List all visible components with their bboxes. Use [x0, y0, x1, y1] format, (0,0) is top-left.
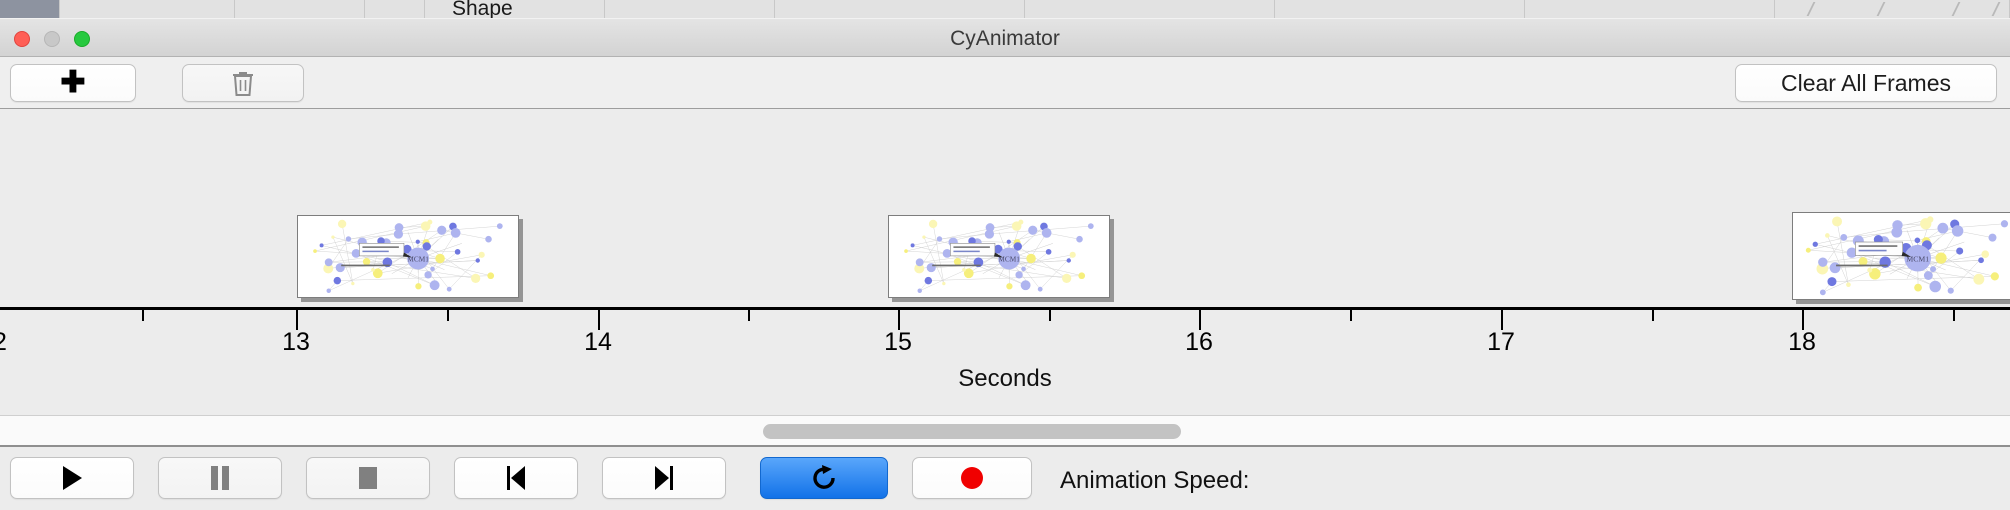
axis-tick-label: 12: [0, 328, 7, 357]
axis-tick-label: 16: [1185, 328, 1213, 357]
axis-tick-major: [598, 310, 600, 330]
transport-bar: Animation Speed:: [0, 447, 2010, 510]
timeline-frame[interactable]: MCM1: [297, 215, 519, 298]
axis-tick-major: [1802, 310, 1804, 330]
plus-icon: ✚: [60, 68, 85, 98]
window-title: CyAnimator: [0, 19, 2010, 58]
toolbar: ✚ Clear All Frames: [0, 57, 2010, 109]
axis-tick-label: 14: [584, 328, 612, 357]
axis-tick-minor: [1350, 310, 1352, 321]
axis-tick-minor: [1652, 310, 1654, 321]
add-frame-button[interactable]: ✚: [10, 64, 136, 102]
timeline-frame[interactable]: MCM1: [1792, 212, 2010, 300]
network-thumbnail: MCM1: [1793, 213, 2010, 299]
axis-tick-major: [1501, 310, 1503, 330]
axis-tick-label: 18: [1788, 328, 1816, 357]
axis-tick-minor: [748, 310, 750, 321]
record-icon: [959, 465, 985, 491]
animation-speed-label: Animation Speed:: [1060, 467, 1249, 495]
clear-all-frames-button[interactable]: Clear All Frames: [1735, 64, 1997, 102]
axis-title: Seconds: [0, 365, 2010, 393]
delete-frame-button[interactable]: [182, 64, 304, 102]
axis-tick-major: [898, 310, 900, 330]
axis-tick-label: 13: [282, 328, 310, 357]
timeline-frame[interactable]: MCM1: [888, 215, 1110, 298]
pause-icon: [208, 464, 232, 492]
timeline-axis: [0, 307, 2010, 310]
clear-all-frames-label: Clear All Frames: [1781, 70, 1951, 97]
axis-tick-label: 15: [884, 328, 912, 357]
axis-tick-major: [1199, 310, 1201, 330]
pause-button[interactable]: [158, 457, 282, 499]
skip-forward-icon: [651, 464, 677, 492]
axis-tick-label: 17: [1487, 328, 1515, 357]
next-frame-button[interactable]: [602, 457, 726, 499]
play-icon: [59, 464, 85, 492]
cyanimator-window: Shape CyAnimator ✚ Clear All Frames: [0, 0, 2010, 510]
title-bar: CyAnimator: [0, 18, 2010, 57]
play-button[interactable]: [10, 457, 134, 499]
axis-tick-minor: [142, 310, 144, 321]
frames-area[interactable]: MCM1MCM1MCM1: [0, 110, 2010, 308]
axis-tick-minor: [447, 310, 449, 321]
background-window-strip: Shape: [0, 0, 2010, 18]
svg-text:MCM1: MCM1: [1906, 254, 1929, 263]
loop-icon: [809, 463, 839, 493]
axis-tick-major: [296, 310, 298, 330]
stop-icon: [356, 464, 380, 492]
loop-button[interactable]: [760, 457, 888, 499]
axis-tick-minor: [1049, 310, 1051, 321]
background-window-label: Shape: [452, 0, 513, 18]
timeline-scrollbar[interactable]: [0, 415, 2010, 447]
network-thumbnail: MCM1: [298, 216, 518, 297]
network-thumbnail: MCM1: [889, 216, 1109, 297]
axis-tick-minor: [1953, 310, 1955, 321]
skip-back-icon: [503, 464, 529, 492]
record-button[interactable]: [912, 457, 1032, 499]
timeline-panel[interactable]: MCM1MCM1MCM1 12131415161718 Seconds: [0, 110, 2010, 415]
stop-button[interactable]: [306, 457, 430, 499]
trash-icon: [231, 70, 255, 97]
previous-frame-button[interactable]: [454, 457, 578, 499]
scrollbar-thumb[interactable]: [763, 424, 1181, 439]
